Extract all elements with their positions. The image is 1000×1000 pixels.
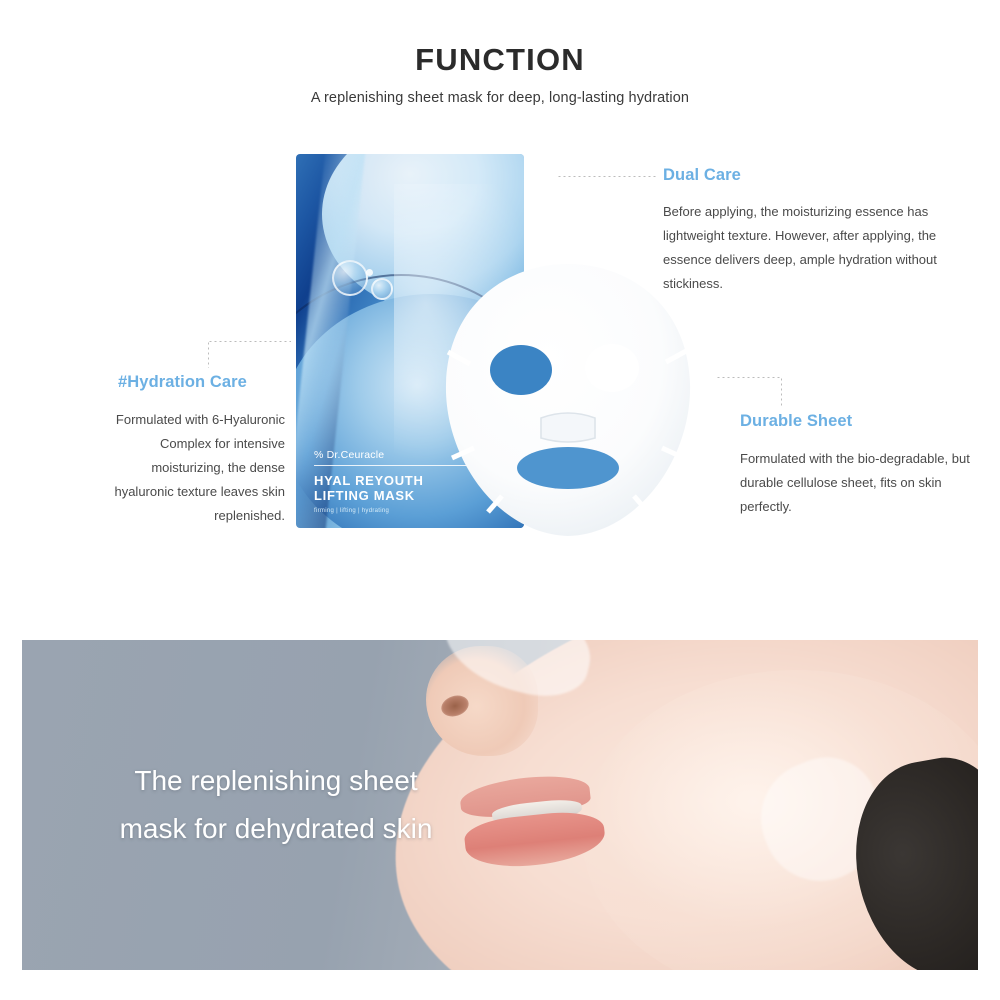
callout-title-dual-care: Dual Care: [663, 166, 741, 185]
hero-caption: The replenishing sheet mask for dehydrat…: [66, 757, 486, 853]
connector-line-durable-sheet-horizontal: [716, 377, 782, 378]
connector-line-hydration-care-vertical: [208, 341, 209, 368]
package-bubble-small: [371, 278, 393, 300]
callout-title-durable-sheet: Durable Sheet: [740, 412, 852, 431]
package-bubble-dot: [366, 269, 373, 276]
page-subtitle: A replenishing sheet mask for deep, long…: [0, 90, 1000, 106]
connector-line-durable-sheet-vertical: [781, 377, 782, 407]
callout-body-dual-care: Before applying, the moisturizing essenc…: [663, 200, 953, 296]
connector-line-dual-care: [557, 176, 656, 177]
callout-title-hydration-care: #Hydration Care: [118, 373, 247, 392]
product-detail-page: FUNCTION A replenishing sheet mask for d…: [0, 0, 1000, 1000]
connector-line-hydration-care-horizontal: [208, 341, 291, 342]
callout-body-hydration-care: Formulated with 6-Hyaluronic Complex for…: [95, 408, 285, 528]
mask-sheet-image: [442, 262, 694, 538]
page-title: FUNCTION: [0, 42, 1000, 78]
package-bubble-large: [332, 260, 368, 296]
callout-body-durable-sheet: Formulated with the bio-degradable, but …: [740, 447, 990, 519]
